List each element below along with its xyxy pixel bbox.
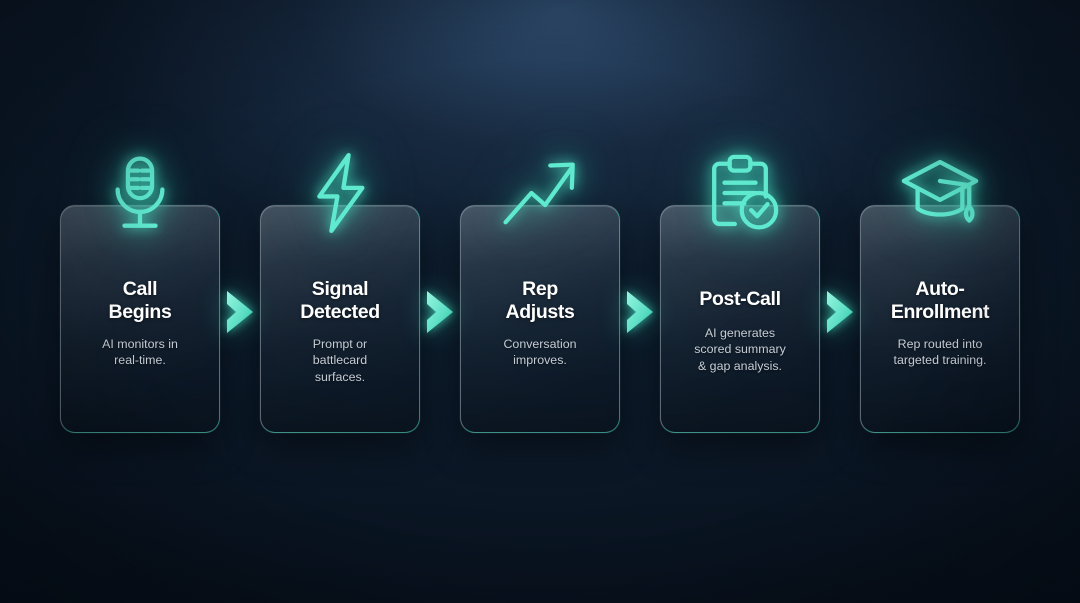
- flow-step-title: Signal Detected: [294, 278, 386, 324]
- microphone-icon: [97, 150, 183, 236]
- graduation-cap-icon: [897, 150, 983, 236]
- chevron-right-icon: [620, 205, 660, 433]
- chevron-right-icon: [220, 205, 260, 433]
- trending-up-arrow-icon: [497, 150, 583, 236]
- flow-step-card-auto-enrollment[interactable]: Auto- Enrollment Rep routed into targete…: [860, 205, 1020, 433]
- flow-step-title: Rep Adjusts: [499, 278, 580, 324]
- flow-step-description: AI monitors in real-time.: [93, 336, 187, 369]
- flow-step-card-rep-adjusts[interactable]: Rep Adjusts Conversation improves.: [460, 205, 620, 433]
- flow-diagram-canvas: Call Begins AI monitors in real-time.: [0, 0, 1080, 603]
- process-flow-row: Call Begins AI monitors in real-time.: [0, 205, 1080, 433]
- chevron-right-icon: [820, 205, 860, 433]
- flow-step-card-call-begins[interactable]: Call Begins AI monitors in real-time.: [60, 205, 220, 433]
- flow-step-description: Prompt or battlecard surfaces.: [304, 336, 376, 386]
- flow-step-title: Call Begins: [103, 278, 178, 324]
- flow-step-title: Auto- Enrollment: [885, 278, 995, 324]
- lightning-bolt-icon: [297, 150, 383, 236]
- clipboard-check-icon: [697, 150, 783, 236]
- flow-step-description: Conversation improves.: [494, 336, 585, 369]
- chevron-right-icon: [420, 205, 460, 433]
- flow-step-description: Rep routed into targeted training.: [885, 336, 996, 369]
- flow-step-title: Post-Call: [693, 288, 786, 311]
- flow-step-description: AI generates scored summary & gap analys…: [685, 325, 795, 375]
- flow-step-card-signal-detected[interactable]: Signal Detected Prompt or battlecard sur…: [260, 205, 420, 433]
- flow-step-card-post-call[interactable]: Post-Call AI generates scored summary & …: [660, 205, 820, 433]
